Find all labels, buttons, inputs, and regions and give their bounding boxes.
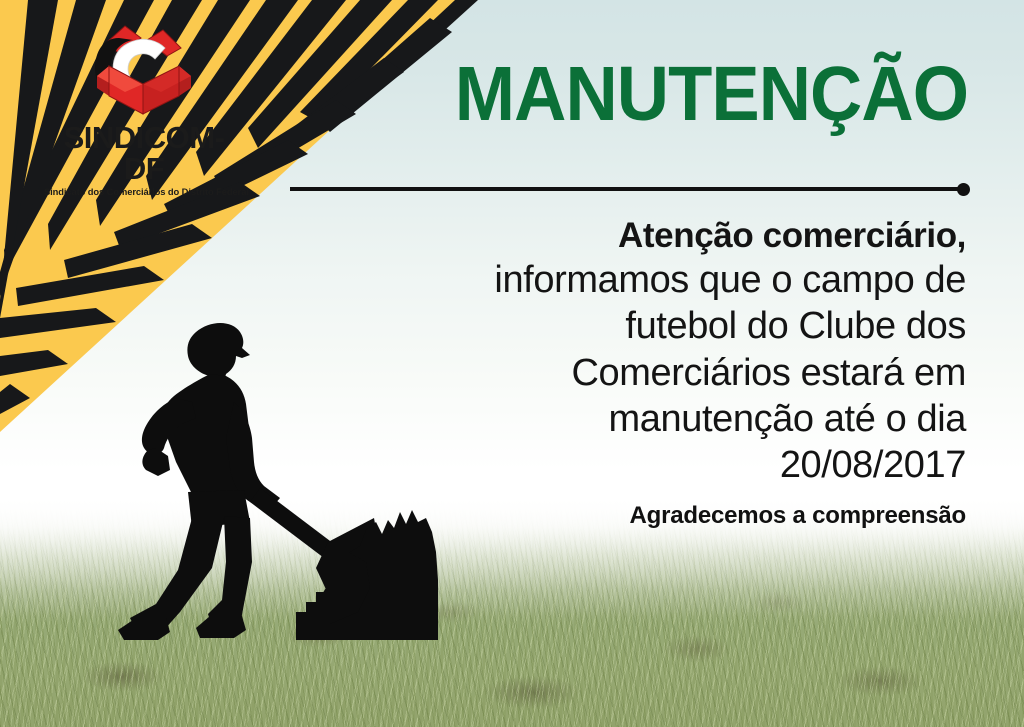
announcement-lead: Atenção comerciário,: [366, 215, 966, 257]
poster-canvas: SINDICOM-DF Sindicato dos Comerciários d…: [0, 0, 1024, 727]
open-box-with-letter-c-icon: [85, 22, 203, 120]
thanks-message: Agradecemos a compreensão: [630, 502, 966, 530]
divider-line: [290, 187, 962, 191]
logo-tagline: Sindicato dos Comerciários do Distrito F…: [44, 187, 244, 197]
page-title: MANUTENÇÃO: [455, 56, 968, 133]
announcement-line-1: informamos que o campo de: [366, 257, 966, 303]
divider-dot: [957, 183, 970, 196]
worker-with-shovel-silhouette: [84, 312, 464, 652]
sindicom-df-logo: SINDICOM-DF Sindicato dos Comerciários d…: [44, 22, 244, 197]
horizontal-rule-with-dot: [290, 183, 970, 195]
logo-wordmark: SINDICOM-DF: [44, 122, 244, 184]
